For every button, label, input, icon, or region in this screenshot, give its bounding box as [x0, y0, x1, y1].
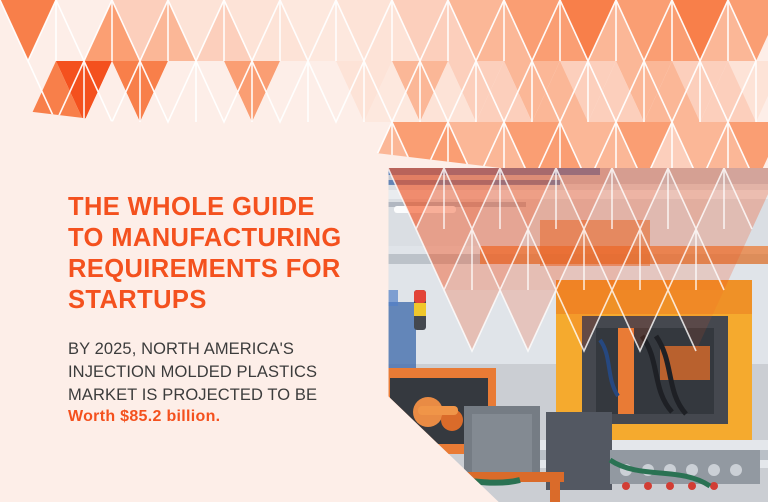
headline: The whole guide to manufacturing require… — [68, 192, 398, 316]
text-block: The whole guide to manufacturing require… — [68, 192, 398, 426]
marketing-banner: The whole guide to manufacturing require… — [0, 0, 768, 502]
subcopy: By 2025, North America's injection molde… — [68, 338, 398, 407]
highlight-stat: Worth $85.2 billion. — [68, 408, 398, 426]
factory-photo — [360, 150, 768, 502]
orange-triangle-overlay — [360, 150, 768, 502]
